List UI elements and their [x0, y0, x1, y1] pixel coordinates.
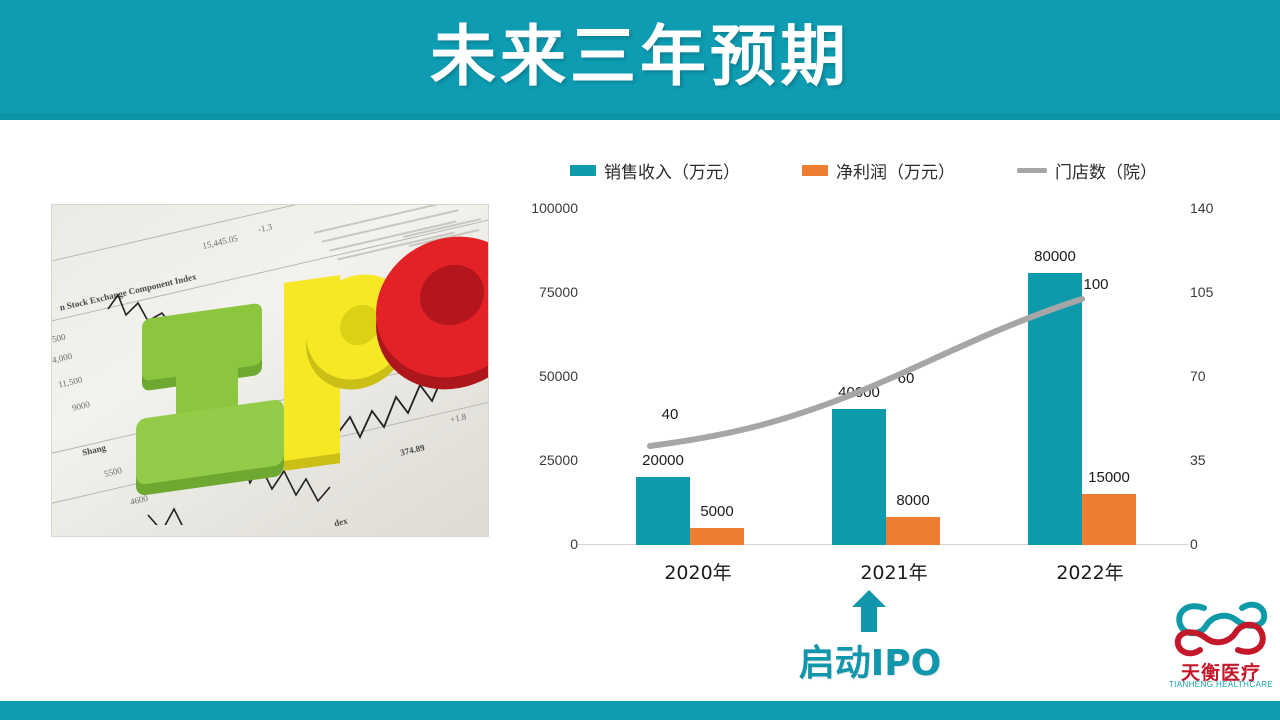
newspaper-text: 15,445.05 — [201, 233, 238, 251]
infinity-knot-icon — [1174, 600, 1268, 658]
header-underline — [0, 113, 1280, 120]
left-axis-tick: 50000 — [510, 369, 578, 383]
right-axis-tick: 140 — [1190, 201, 1258, 215]
category-label-2021: 2021年 — [796, 558, 992, 585]
left-axis: 0 25000 50000 75000 100000 — [510, 200, 580, 545]
right-axis-tick: 0 — [1190, 537, 1258, 551]
legend-swatch-icon — [802, 165, 828, 176]
left-axis-tick: 25000 — [510, 453, 578, 467]
plot-area: 20000 5000 40 2020年 40000 8000 60 2021年 — [586, 200, 1176, 545]
left-axis-tick: 75000 — [510, 285, 578, 299]
ipo-callout: 启动IPO — [700, 590, 1040, 690]
right-axis: 0 35 70 105 140 — [1180, 200, 1250, 545]
newspaper-text: -1.3 — [257, 222, 273, 235]
category-label-2020: 2020年 — [600, 558, 796, 585]
legend-label: 净利润（万元） — [836, 158, 955, 183]
legend-label: 销售收入（万元） — [604, 158, 740, 183]
ipo-photo: n Stock Exchange Component Index 15,445.… — [52, 205, 488, 536]
store-count-line — [586, 200, 1176, 545]
forecast-chart: 销售收入（万元） 净利润（万元） 门店数（院） 0 25000 50000 75… — [510, 145, 1250, 595]
right-axis-tick: 70 — [1190, 369, 1258, 383]
right-axis-tick: 105 — [1190, 285, 1258, 299]
logo-name-en: TIANHENG HEALTHCARE — [1168, 680, 1274, 689]
legend-line-icon — [1017, 168, 1047, 173]
slide: 未来三年预期 n Stock Exchange Component Index … — [0, 0, 1280, 720]
legend-item-revenue: 销售收入（万元） — [570, 158, 740, 183]
right-axis-tick: 35 — [1190, 453, 1258, 467]
footer-band — [0, 701, 1280, 720]
page-title: 未来三年预期 — [0, 0, 1280, 113]
company-logo: 天衡医疗 TIANHENG HEALTHCARE — [1168, 600, 1274, 698]
callout-label: 启动IPO — [700, 634, 1040, 686]
legend-swatch-icon — [570, 165, 596, 176]
arrow-up-icon — [852, 590, 886, 632]
category-label-2022: 2022年 — [992, 558, 1188, 585]
legend-label: 门店数（院） — [1055, 158, 1157, 183]
left-axis-tick: 100000 — [510, 201, 578, 215]
chart-legend: 销售收入（万元） 净利润（万元） 门店数（院） — [570, 155, 1220, 185]
legend-item-stores: 门店数（院） — [1017, 158, 1157, 183]
plot: 0 25000 50000 75000 100000 0 35 70 105 1… — [510, 200, 1250, 545]
letter-o-icon — [370, 227, 488, 409]
legend-item-profit: 净利润（万元） — [802, 158, 955, 183]
left-axis-tick: 0 — [510, 537, 578, 551]
